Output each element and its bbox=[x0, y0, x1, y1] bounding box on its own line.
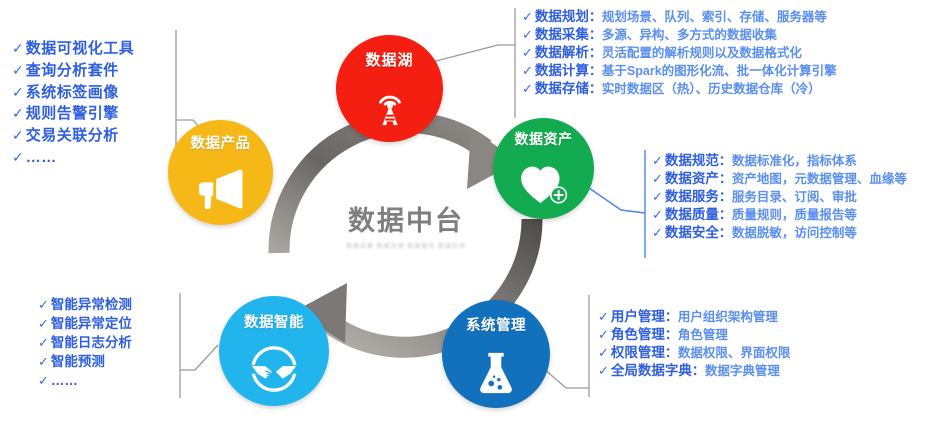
handshake-icon bbox=[246, 332, 302, 406]
check-icon: ✓ bbox=[598, 326, 609, 343]
annotation-keyword: 智能预测 bbox=[51, 353, 105, 372]
annotation-data-product: ✓数据可视化工具✓查询分析套件✓系统标签画像✓规则告警引擎✓交易关联分析✓…… bbox=[12, 38, 134, 169]
annotation-description: 数据字典管理 bbox=[705, 363, 780, 380]
check-icon: ✓ bbox=[652, 206, 663, 223]
check-icon: ✓ bbox=[38, 372, 49, 390]
check-icon: ✓ bbox=[522, 80, 533, 97]
check-icon: ✓ bbox=[38, 315, 49, 333]
annotation-keyword: 数据质量 bbox=[665, 206, 719, 224]
annotation-item: ✓…… bbox=[38, 372, 132, 391]
annotation-description: 角色管理 bbox=[678, 327, 728, 344]
annotation-separator: ： bbox=[719, 170, 732, 187]
node-data-intelligence[interactable]: 数据智能 bbox=[219, 296, 329, 406]
check-icon: ✓ bbox=[12, 60, 24, 80]
annotation-keyword: 数据解析 bbox=[535, 44, 589, 62]
annotation-keyword: 数据存储 bbox=[535, 80, 589, 98]
node-data-product[interactable]: 数据产品 bbox=[168, 120, 273, 225]
annotation-keyword: 数据可视化工具 bbox=[26, 38, 135, 60]
annotation-keyword: 交易关联分析 bbox=[26, 125, 119, 147]
check-icon: ✓ bbox=[652, 152, 663, 169]
annotation-description: 质量规则，质量报告等 bbox=[732, 207, 857, 224]
flask-icon bbox=[475, 335, 517, 408]
annotation-keyword: 查询分析套件 bbox=[26, 60, 119, 82]
annotation-item: ✓系统标签画像 bbox=[12, 82, 134, 104]
annotation-description: 数据标准化，指标体系 bbox=[732, 153, 857, 170]
annotation-keyword: 智能异常检测 bbox=[51, 296, 132, 315]
annotation-item: ✓规则告警引擎 bbox=[12, 103, 134, 125]
annotation-separator: ： bbox=[589, 44, 602, 61]
heart-plus-icon bbox=[518, 149, 570, 219]
annotation-keyword: 用户管理 bbox=[611, 308, 665, 326]
megaphone-icon bbox=[197, 153, 245, 225]
annotation-separator: ： bbox=[589, 62, 602, 79]
annotation-keyword: 数据安全 bbox=[665, 224, 719, 242]
annotation-description: 灵活配置的解析规则以及数据格式化 bbox=[602, 45, 802, 62]
check-icon: ✓ bbox=[38, 353, 49, 371]
check-icon: ✓ bbox=[598, 308, 609, 325]
annotation-item: ✓数据解析：灵活配置的解析规则以及数据格式化 bbox=[522, 44, 837, 62]
annotation-item: ✓数据服务：服务目录、订阅、审批 bbox=[652, 188, 907, 206]
annotation-separator: ： bbox=[719, 206, 732, 223]
annotation-separator: ： bbox=[665, 344, 678, 361]
check-icon: ✓ bbox=[12, 103, 24, 123]
annotation-keyword: 数据计算 bbox=[535, 62, 589, 80]
annotation-item: ✓数据规范：数据标准化，指标体系 bbox=[652, 152, 907, 170]
annotation-separator: ： bbox=[719, 224, 732, 241]
annotation-description: 数据脱敏，访问控制等 bbox=[732, 225, 857, 242]
annotation-item: ✓…… bbox=[12, 147, 134, 169]
annotation-item: ✓数据安全：数据脱敏，访问控制等 bbox=[652, 224, 907, 242]
annotation-description: 多源、异构、多方式的数据收集 bbox=[602, 27, 777, 44]
annotation-separator: ： bbox=[589, 80, 602, 97]
check-icon: ✓ bbox=[652, 170, 663, 187]
annotation-item: ✓智能日志分析 bbox=[38, 334, 132, 353]
check-icon: ✓ bbox=[522, 44, 533, 61]
annotation-keyword: …… bbox=[51, 372, 78, 391]
annotation-separator: ： bbox=[692, 362, 705, 379]
annotation-separator: ： bbox=[719, 152, 732, 169]
annotation-separator: ： bbox=[719, 188, 732, 205]
center-label: 数据中台 数据采集 数据治理 数据服务 数据应用 bbox=[306, 208, 506, 250]
annotation-item: ✓权限管理：数据权限、界面权限 bbox=[598, 344, 790, 362]
annotation-data-intelligence: ✓智能异常检测✓智能异常定位✓智能日志分析✓智能预测✓…… bbox=[38, 296, 132, 390]
annotation-keyword: 系统标签画像 bbox=[26, 82, 119, 104]
bracket-data-asset bbox=[589, 150, 645, 258]
annotation-keyword: 数据资产 bbox=[665, 170, 719, 188]
annotation-keyword: …… bbox=[26, 147, 57, 169]
annotation-item: ✓数据存储：实时数据区（热）、历史数据仓库（冷） bbox=[522, 80, 837, 98]
annotation-separator: ： bbox=[589, 8, 602, 25]
annotation-keyword: 全局数据字典 bbox=[611, 362, 692, 380]
annotation-description: 资产地图，元数据管理、血缘等 bbox=[732, 171, 907, 188]
annotation-keyword: 数据规范 bbox=[665, 152, 719, 170]
annotation-keyword: 数据采集 bbox=[535, 26, 589, 44]
check-icon: ✓ bbox=[38, 334, 49, 352]
check-icon: ✓ bbox=[598, 344, 609, 361]
annotation-description: 实时数据区（热）、历史数据仓库（冷） bbox=[602, 81, 821, 98]
annotation-description: 数据权限、界面权限 bbox=[678, 345, 791, 362]
annotation-item: ✓全局数据字典：数据字典管理 bbox=[598, 362, 790, 380]
annotation-keyword: 智能异常定位 bbox=[51, 315, 132, 334]
annotation-separator: ： bbox=[589, 26, 602, 43]
annotation-item: ✓数据资产：资产地图，元数据管理、血缘等 bbox=[652, 170, 907, 188]
check-icon: ✓ bbox=[652, 224, 663, 241]
annotation-separator: ： bbox=[665, 326, 678, 343]
node-data-lake-label: 数据湖 bbox=[365, 49, 413, 70]
annotation-system-management: ✓用户管理：用户组织架构管理✓角色管理：角色管理✓权限管理：数据权限、界面权限✓… bbox=[598, 308, 790, 380]
node-data-intelligence-label: 数据智能 bbox=[244, 311, 304, 332]
annotation-description: 规划场景、队列、索引、存储、服务器等 bbox=[602, 9, 827, 26]
check-icon: ✓ bbox=[598, 362, 609, 379]
node-data-asset[interactable]: 数据资产 bbox=[493, 118, 594, 219]
annotation-item: ✓数据计算：基于Spark的图形化流、批一体化计算引擎 bbox=[522, 62, 837, 80]
node-system-management[interactable]: 系统管理 bbox=[442, 300, 550, 408]
annotation-item: ✓智能预测 bbox=[38, 353, 132, 372]
check-icon: ✓ bbox=[12, 38, 24, 58]
annotation-item: ✓数据可视化工具 bbox=[12, 38, 134, 60]
center-subtitle: 数据采集 数据治理 数据服务 数据应用 bbox=[306, 241, 506, 250]
check-icon: ✓ bbox=[522, 8, 533, 25]
annotation-data-lake: ✓数据规划：规划场景、队列、索引、存储、服务器等✓数据采集：多源、异构、多方式的… bbox=[522, 8, 837, 98]
annotation-item: ✓角色管理：角色管理 bbox=[598, 326, 790, 344]
bracket-data-intelligence bbox=[180, 293, 218, 398]
check-icon: ✓ bbox=[12, 125, 24, 145]
annotation-data-asset: ✓数据规范：数据标准化，指标体系✓数据资产：资产地图，元数据管理、血缘等✓数据服… bbox=[652, 152, 907, 242]
check-icon: ✓ bbox=[12, 147, 24, 167]
node-system-management-label: 系统管理 bbox=[466, 314, 526, 335]
check-icon: ✓ bbox=[38, 296, 49, 314]
annotation-description: 服务目录、订阅、审批 bbox=[732, 189, 857, 206]
broadcast-tower-icon bbox=[367, 70, 413, 142]
annotation-item: ✓数据采集：多源、异构、多方式的数据收集 bbox=[522, 26, 837, 44]
annotation-item: ✓数据规划：规划场景、队列、索引、存储、服务器等 bbox=[522, 8, 837, 26]
annotation-item: ✓智能异常检测 bbox=[38, 296, 132, 315]
annotation-description: 基于Spark的图形化流、批一体化计算引擎 bbox=[602, 63, 837, 80]
annotation-keyword: 角色管理 bbox=[611, 326, 665, 344]
check-icon: ✓ bbox=[522, 62, 533, 79]
node-data-lake[interactable]: 数据湖 bbox=[336, 35, 443, 142]
node-data-asset-label: 数据资产 bbox=[515, 129, 573, 149]
annotation-keyword: 数据服务 bbox=[665, 188, 719, 206]
annotation-keyword: 规则告警引擎 bbox=[26, 103, 119, 125]
check-icon: ✓ bbox=[652, 188, 663, 205]
annotation-item: ✓用户管理：用户组织架构管理 bbox=[598, 308, 790, 326]
node-data-product-label: 数据产品 bbox=[191, 132, 251, 153]
annotation-item: ✓交易关联分析 bbox=[12, 125, 134, 147]
annotation-item: ✓数据质量：质量规则，质量报告等 bbox=[652, 206, 907, 224]
annotation-item: ✓查询分析套件 bbox=[12, 60, 134, 82]
check-icon: ✓ bbox=[12, 82, 24, 102]
annotation-keyword: 数据规划 bbox=[535, 8, 589, 26]
annotation-keyword: 智能日志分析 bbox=[51, 334, 132, 353]
page-title: 数据中台 bbox=[306, 208, 506, 235]
check-icon: ✓ bbox=[522, 26, 533, 43]
annotation-keyword: 权限管理 bbox=[611, 344, 665, 362]
annotation-description: 用户组织架构管理 bbox=[678, 309, 778, 326]
diagram-canvas: 数据中台 数据采集 数据治理 数据服务 数据应用 数据湖 数据资产 bbox=[0, 0, 931, 428]
annotation-item: ✓智能异常定位 bbox=[38, 315, 132, 334]
annotation-separator: ： bbox=[665, 308, 678, 325]
